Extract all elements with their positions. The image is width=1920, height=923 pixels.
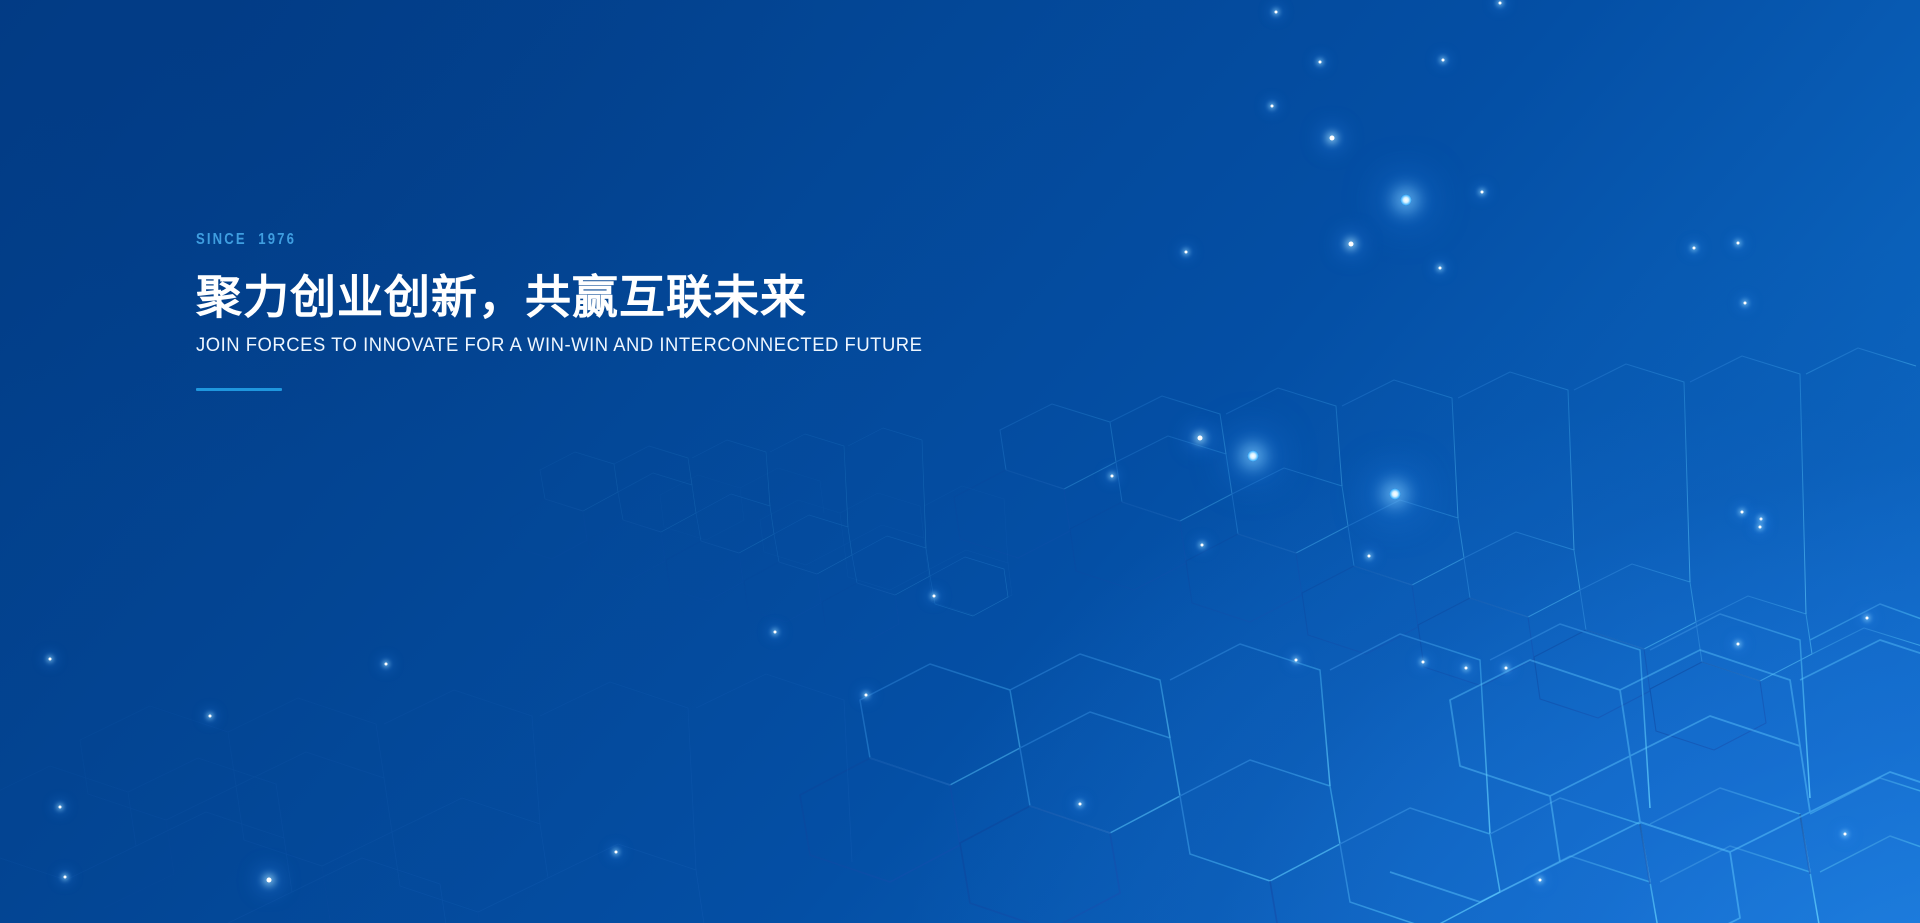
- eyebrow-since-label: SINCE 1976: [196, 232, 1016, 248]
- glowing-node-particle: [49, 658, 52, 661]
- hexagonal-network-mesh: [0, 0, 1920, 923]
- hero-copy-block: SINCE 1976 聚力创业创新，共赢互联未来 JOIN FORCES TO …: [196, 232, 1196, 391]
- glowing-node-particle: [1481, 191, 1484, 194]
- glowing-node-particle: [267, 878, 272, 883]
- glowing-node-particle: [1539, 879, 1542, 882]
- glowing-node-particle: [1499, 2, 1502, 5]
- glowing-node-particle: [1741, 511, 1744, 514]
- glowing-node-particle: [1330, 136, 1335, 141]
- accent-rule-divider: [196, 388, 282, 391]
- glowing-node-particle: [1111, 475, 1114, 478]
- glowing-node-particle: [1201, 544, 1204, 547]
- glowing-node-particle: [1079, 803, 1082, 806]
- glowing-node-particle: [1349, 242, 1354, 247]
- glowing-node-particle: [615, 851, 618, 854]
- glowing-node-particle: [774, 631, 777, 634]
- glowing-node-particle: [59, 806, 62, 809]
- glowing-node-particle: [64, 876, 67, 879]
- page-title: 聚力创业创新，共赢互联未来: [196, 270, 1196, 324]
- glowing-node-particle: [1505, 667, 1508, 670]
- glowing-node-particle: [1844, 833, 1847, 836]
- glowing-node-particle: [1693, 247, 1696, 250]
- glowing-node-particle: [1439, 267, 1442, 270]
- glowing-node-particle: [1737, 242, 1740, 245]
- glowing-node-particle: [1295, 659, 1298, 662]
- glowing-node-particle: [1248, 451, 1259, 462]
- glowing-node-particle: [1198, 436, 1203, 441]
- glowing-node-particle: [1442, 59, 1445, 62]
- glowing-node-particle: [1390, 489, 1401, 500]
- glowing-node-particle: [1759, 526, 1762, 529]
- glowing-node-particle: [385, 663, 388, 666]
- glowing-node-particle: [1866, 617, 1869, 620]
- glowing-node-particle: [1271, 105, 1274, 108]
- glowing-node-particle: [209, 715, 212, 718]
- glowing-node-particle: [1737, 643, 1740, 646]
- glow-particle-layer: [0, 0, 1920, 923]
- glowing-node-particle: [1275, 11, 1278, 14]
- glowing-node-particle: [1368, 555, 1371, 558]
- glowing-node-particle: [1422, 661, 1425, 664]
- glowing-node-particle: [1465, 667, 1468, 670]
- glowing-node-particle: [933, 595, 936, 598]
- glowing-node-particle: [1401, 195, 1412, 206]
- page-subtitle: JOIN FORCES TO INNOVATE FOR A WIN-WIN AN…: [196, 335, 1166, 358]
- glowing-node-particle: [1319, 61, 1322, 64]
- glowing-node-particle: [1744, 302, 1747, 305]
- hero-banner: SINCE 1976 聚力创业创新，共赢互联未来 JOIN FORCES TO …: [0, 0, 1920, 923]
- glowing-node-particle: [865, 694, 868, 697]
- mesh-svg: [0, 0, 1920, 923]
- glowing-node-particle: [1760, 518, 1763, 521]
